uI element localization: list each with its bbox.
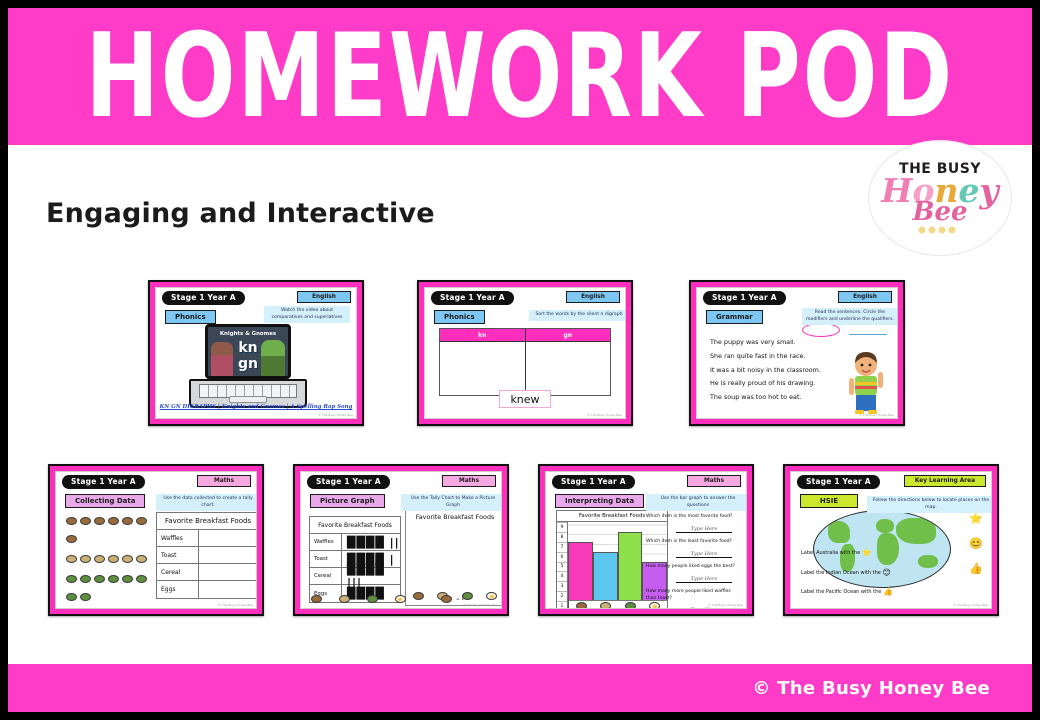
- watermark: © The Busy Honey Bee: [708, 603, 743, 607]
- question-list: Which item is the most favorite food? Ty…: [646, 514, 738, 609]
- answer-field[interactable]: Type Here: [676, 576, 732, 583]
- cereal-icon[interactable]: [66, 575, 77, 583]
- y-tick: 3: [557, 581, 567, 591]
- card-body: Stage 1 Year A English Grammar Read the …: [696, 287, 898, 419]
- underline-annotation-icon[interactable]: [849, 334, 887, 335]
- answer-field[interactable]: Type Here: [676, 526, 732, 533]
- kla-tag: Maths: [442, 475, 496, 487]
- row-tally[interactable]: [199, 547, 257, 563]
- egg-icon[interactable]: [486, 592, 497, 600]
- sort-column-kn[interactable]: kn: [440, 329, 525, 395]
- kla-tag: English: [297, 291, 351, 303]
- instruction-text: Watch the video about comparatives and s…: [264, 306, 350, 323]
- cereal-icon[interactable]: [122, 575, 133, 583]
- row-label: Waffles: [310, 534, 342, 550]
- instruction-text: Follow the directions below to locate pl…: [867, 496, 992, 513]
- bar-waffles: [568, 542, 593, 609]
- watermark: © The Busy Honey Bee: [218, 603, 253, 607]
- x-tick-cereal: [618, 601, 643, 609]
- card-body: Stage 1 Year A Maths Collecting Data Use…: [55, 471, 257, 609]
- cereal-icon: [625, 602, 636, 609]
- waffle-icon[interactable]: [108, 517, 119, 525]
- video-digraph-kn: kn: [208, 340, 288, 356]
- stage-pill: Stage 1 Year A: [62, 475, 145, 489]
- land-asia: [896, 518, 936, 544]
- kla-tag: Key Learning Area: [904, 475, 986, 487]
- tally-chart-table: Favorite Breakfast Foods Waffles ████ ||…: [309, 516, 401, 603]
- card-picture-graph[interactable]: Stage 1 Year A Maths Picture Graph Use t…: [293, 464, 509, 616]
- question-item: Which item is the most favorite food? Ty…: [646, 514, 738, 533]
- land-australia: [918, 555, 938, 568]
- card-phonics-video[interactable]: Stage 1 Year A English Phonics Watch the…: [148, 280, 364, 426]
- direction-text: Label the Indian Ocean with the: [801, 570, 881, 576]
- y-tick: 9: [557, 522, 567, 532]
- thumbs-up-icon[interactable]: 👍: [969, 562, 983, 575]
- honeycomb-icon: [917, 226, 963, 235]
- waffle-icon[interactable]: [311, 595, 322, 603]
- question-item: How many people liked eggs the best? Typ…: [646, 564, 738, 583]
- cereal-icon[interactable]: [108, 575, 119, 583]
- card-body: Stage 1 Year A English Phonics Sort the …: [424, 287, 626, 419]
- row-label: Cereal: [157, 564, 199, 580]
- row-tally: ████ |||: [342, 568, 400, 584]
- row-tally[interactable]: [199, 581, 257, 598]
- sort-header-gn: gn: [526, 329, 611, 342]
- topic-tag: Interpreting Data: [555, 494, 644, 508]
- row-tally[interactable]: [199, 564, 257, 580]
- stage-pill: Stage 1 Year A: [797, 475, 880, 489]
- sentence-item: The soup was too hot to eat.: [710, 391, 821, 405]
- instruction-text: Read the sentences. Circle the modifiers…: [802, 308, 898, 325]
- stage-pill: Stage 1 Year A: [162, 291, 245, 305]
- stage-pill: Stage 1 Year A: [307, 475, 390, 489]
- waffle-icon[interactable]: [136, 517, 147, 525]
- row-label: Toast: [310, 551, 342, 567]
- y-tick: 4: [557, 571, 567, 581]
- y-tick: 2: [557, 591, 567, 601]
- topic-tag: Phonics: [434, 310, 485, 324]
- watermark: © The Busy Honey Bee: [859, 413, 894, 417]
- instruction-text: Use the bar graph to answer the question…: [646, 494, 747, 511]
- x-tick-waffles: [569, 601, 594, 609]
- food-group-waffle[interactable]: [64, 512, 152, 548]
- instruction-text: Sort the words by the silent n digraph: [529, 310, 626, 321]
- direction-text: Label the Pacific Ocean with the: [801, 589, 881, 595]
- topic-tag: Picture Graph: [310, 494, 385, 508]
- row-tally: ████ ||: [342, 534, 400, 550]
- logo-bee-word: Bee: [912, 200, 967, 225]
- row-label: Waffles: [157, 530, 199, 546]
- y-tick: 7: [557, 542, 567, 552]
- waffle-icon[interactable]: [94, 517, 105, 525]
- sentence-item: The puppy was very small.: [710, 336, 821, 350]
- topic-tag: Grammar: [706, 310, 763, 324]
- waffle-icon[interactable]: [80, 517, 91, 525]
- food-group-egg[interactable]: [64, 608, 152, 609]
- toast-icon[interactable]: [136, 555, 147, 563]
- section-subtitle: Engaging and Interactive: [46, 198, 435, 229]
- cereal-icon[interactable]: [94, 575, 105, 583]
- table-row[interactable]: Toast: [157, 547, 257, 564]
- toast-icon[interactable]: [80, 555, 91, 563]
- sentence-item: She ran quite fast in the race.: [710, 350, 821, 364]
- toast-icon[interactable]: [339, 595, 350, 603]
- sentence-item: He is really proud of his drawing.: [710, 377, 821, 391]
- topic-tag: HSIE: [800, 494, 858, 508]
- toast-icon[interactable]: [108, 555, 119, 563]
- trackpad-icon: [229, 396, 267, 403]
- cereal-icon[interactable]: [80, 593, 91, 601]
- y-axis: 1 2 3 4 5 6 7 8 9: [557, 522, 568, 609]
- question-item: Which item is the least favorite food? T…: [646, 539, 738, 558]
- direction-text: Label Australia with the: [801, 550, 860, 556]
- video-screen[interactable]: Knights & Gnomes kn gn: [205, 324, 291, 379]
- watermark: © The Busy Honey Bee: [463, 603, 498, 607]
- waffle-icon[interactable]: [122, 517, 133, 525]
- table-title: Favorite Breakfast Foods: [310, 517, 400, 534]
- table-row[interactable]: Cereal: [157, 564, 257, 581]
- kla-tag: English: [838, 291, 892, 303]
- page-title: HOMEWORK POD: [86, 18, 955, 134]
- card-body: Stage 1 Year A Maths Interpreting Data U…: [545, 471, 747, 609]
- waffle-icon[interactable]: [66, 535, 77, 543]
- question-text: How many people liked eggs the best?: [646, 564, 738, 571]
- topic-tag: Phonics: [165, 310, 216, 324]
- slide-page: HOMEWORK POD THE BUSY Honey Bee Engaging…: [0, 0, 1040, 720]
- kla-tag: Maths: [197, 475, 251, 487]
- kla-tag: Maths: [687, 475, 741, 487]
- row-tally[interactable]: [199, 530, 257, 546]
- card-hsie-map[interactable]: Stage 1 Year A Key Learning Area HSIE Fo…: [783, 464, 999, 616]
- y-tick: 8: [557, 532, 567, 542]
- instruction-text: Use the data collected to create a tally…: [156, 494, 257, 511]
- waffle-icon[interactable]: [413, 592, 424, 600]
- toast-icon[interactable]: [122, 555, 133, 563]
- card-body: Stage 1 Year A English Phonics Watch the…: [155, 287, 357, 419]
- smiley-icon[interactable]: 😊: [969, 537, 983, 550]
- cereal-icon[interactable]: [367, 595, 378, 603]
- video-digraph-gn: gn: [208, 356, 288, 372]
- stage-pill: Stage 1 Year A: [552, 475, 635, 489]
- land-europe: [876, 519, 894, 533]
- table-row[interactable]: Eggs: [157, 581, 257, 598]
- footer-credit: © The Busy Honey Bee: [752, 678, 990, 699]
- map-legend[interactable]: ⭐ 😊 👍: [969, 512, 983, 575]
- star-icon[interactable]: ⭐: [969, 512, 983, 525]
- logo-letter-h: H: [881, 175, 912, 206]
- food-icon-pool[interactable]: ████ |: [64, 512, 152, 609]
- thumbs-up-icon: 👍: [883, 587, 893, 596]
- watermark: © The Busy Honey Bee: [587, 413, 622, 417]
- map-direction-item: Label the Indian Ocean with the 😊: [801, 563, 893, 583]
- card-body: Stage 1 Year A Maths Picture Graph Use t…: [300, 471, 502, 609]
- question-text: Which item is the most favorite food?: [646, 514, 738, 521]
- card-body: Stage 1 Year A Key Learning Area HSIE Fo…: [790, 471, 992, 609]
- waffle-icon[interactable]: [66, 517, 77, 525]
- stage-pill: Stage 1 Year A: [703, 291, 786, 305]
- cereal-icon[interactable]: [136, 575, 147, 583]
- brand-logo: THE BUSY Honey Bee: [868, 140, 1012, 256]
- question-text: How many more people liked waffles than …: [646, 589, 738, 603]
- map-direction-item: Label Australia with the ⭐: [801, 543, 893, 563]
- watermark: © The Busy Honey Bee: [953, 603, 988, 607]
- x-tick-toast: [594, 601, 619, 609]
- instruction-text: Use the Tally Chart to Make a Picture Gr…: [401, 494, 502, 511]
- food-group-toast[interactable]: [64, 550, 152, 568]
- footer-banner: © The Busy Honey Bee: [8, 664, 1032, 712]
- sort-header-kn: kn: [440, 329, 525, 342]
- header-banner: HOMEWORK POD: [8, 8, 1032, 145]
- cereal-icon[interactable]: [66, 593, 77, 601]
- y-tick: 1: [557, 601, 567, 609]
- toast-icon: [600, 602, 611, 609]
- row-label: Toast: [157, 547, 199, 563]
- table-row: Cereal ████ |||: [310, 568, 400, 585]
- watermark: © The Busy Honey Bee: [318, 413, 353, 417]
- waffle-icon: [576, 602, 587, 609]
- card-phonics-sort[interactable]: Stage 1 Year A English Phonics Sort the …: [417, 280, 633, 426]
- smiley-icon: 😊: [882, 568, 890, 577]
- draggable-word-tile[interactable]: knew: [499, 390, 551, 408]
- sentence-item: It was a bit noisy in the classroom.: [710, 364, 821, 378]
- picture-graph-area[interactable]: Favorite Breakfast Foods: [405, 508, 502, 606]
- question-text: Which item is the least favorite food?: [646, 539, 738, 546]
- table-row: Waffles ████ ||: [310, 534, 400, 551]
- answer-field[interactable]: Type Here: [676, 551, 732, 558]
- card-grammar[interactable]: Stage 1 Year A English Grammar Read the …: [689, 280, 905, 426]
- waffle-icon: [441, 595, 452, 603]
- laptop-illustration: Knights & Gnomes kn gn: [205, 324, 307, 408]
- topic-tag: Collecting Data: [65, 494, 145, 508]
- logo-letter-y: y: [980, 175, 999, 206]
- sort-table: kn gn: [439, 328, 611, 396]
- table-row[interactable]: Waffles: [157, 530, 257, 547]
- food-icon-palette[interactable]: [309, 594, 407, 604]
- card-collecting-data[interactable]: Stage 1 Year A Maths Collecting Data Use…: [48, 464, 264, 616]
- y-tick: 6: [557, 552, 567, 562]
- stage-pill: Stage 1 Year A: [431, 291, 514, 305]
- egg-icon[interactable]: [395, 595, 406, 603]
- land-north-america: [828, 521, 850, 543]
- graph-key: = 1: [439, 594, 464, 604]
- table-title: Favorite Breakfast Foods: [157, 513, 257, 530]
- row-label: Cereal: [310, 568, 342, 584]
- key-label: = 1: [456, 597, 464, 602]
- kla-tag: English: [566, 291, 620, 303]
- sort-column-gn[interactable]: gn: [525, 329, 611, 395]
- row-label: Eggs: [157, 581, 199, 598]
- food-group-cereal[interactable]: [64, 570, 152, 606]
- star-icon: ⭐: [862, 548, 872, 557]
- bar-cereal: [618, 532, 643, 609]
- answer-field[interactable]: Type Here: [676, 607, 732, 609]
- tally-chart-table[interactable]: Favorite Breakfast Foods Waffles Toast C…: [156, 512, 257, 599]
- map-direction-list: Label Australia with the ⭐ Label the Ind…: [801, 543, 893, 602]
- child-character-icon: [845, 352, 887, 414]
- toast-icon[interactable]: [94, 555, 105, 563]
- cereal-icon[interactable]: [80, 575, 91, 583]
- map-direction-item: Label the Pacific Ocean with the 👍: [801, 582, 893, 602]
- video-link[interactable]: KN GN DIGRAPHS | Knights and Gnomes | A …: [156, 404, 356, 410]
- sentence-list: The puppy was very small. She ran quite …: [710, 336, 821, 405]
- toast-icon[interactable]: [66, 555, 77, 563]
- video-title: Knights & Gnomes: [208, 331, 288, 337]
- y-tick: 5: [557, 562, 567, 572]
- card-interpreting-data[interactable]: Stage 1 Year A Maths Interpreting Data U…: [538, 464, 754, 616]
